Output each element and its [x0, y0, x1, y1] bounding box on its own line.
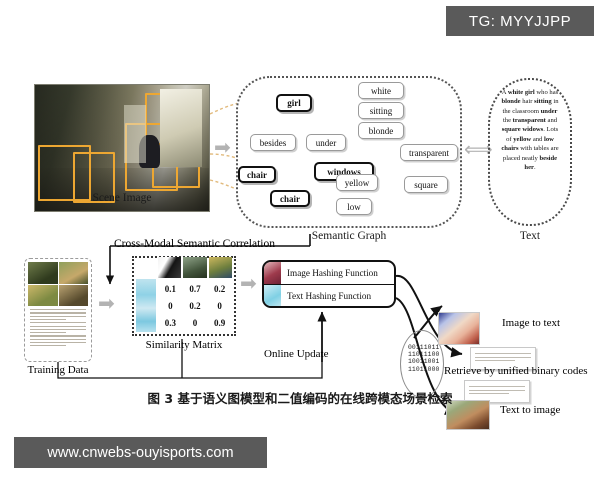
matrix-cell: 0.3 [158, 315, 183, 332]
matrix-column-thumbnails [158, 257, 232, 278]
image-modality-swatch [264, 262, 281, 284]
graph-node-low[interactable]: low [336, 198, 372, 215]
matrix-cell: 0 [183, 315, 208, 332]
image-to-text-label: Image to text [502, 317, 560, 329]
binary-code-line: 10011001 [408, 358, 439, 365]
matrix-values: 0.1 0.7 0.2 0 0.2 0 0.3 0 0.9 [158, 280, 232, 332]
matrix-cell: 0.9 [207, 315, 232, 332]
text-panel-label: Text [488, 230, 572, 242]
graph-node-transparent[interactable]: transparent [400, 144, 458, 161]
text-description-panel: A white girl who has blonde hair sitting… [488, 78, 572, 226]
graph-node-chair-2[interactable]: chair [270, 190, 310, 207]
graph-node-besides[interactable]: besides [250, 134, 296, 151]
matrix-cell: 0 [207, 297, 232, 314]
graph-node-chair-1[interactable]: chair [238, 166, 276, 183]
similarity-matrix-label: Similarity Matrix [124, 339, 244, 351]
figure-caption: 图 3 基于语义图模型和二值编码的在线跨模态场景检索 [14, 388, 586, 407]
matrix-thumb-1 [158, 257, 181, 278]
watermark-bar: www.cnwebs-ouyisports.com [14, 437, 267, 468]
text-modality-swatch [264, 285, 281, 306]
figure-canvas: Scene Image girl white sitting blonde be… [14, 62, 586, 420]
image-hashing-row[interactable]: Image Hashing Function [264, 262, 394, 284]
matrix-cell: 0 [158, 297, 183, 314]
matrix-thumb-3 [209, 257, 232, 278]
training-text-lines [28, 309, 88, 346]
image-hashing-label: Image Hashing Function [281, 268, 378, 278]
graph-node-square[interactable]: square [404, 176, 448, 193]
training-data-panel [24, 258, 92, 362]
matrix-cell: 0.2 [207, 280, 232, 297]
training-thumb-4 [59, 285, 89, 307]
training-thumb-3 [28, 285, 58, 307]
training-thumbnails [28, 262, 88, 306]
matrix-cell: 0.7 [183, 280, 208, 297]
training-thumb-1 [28, 262, 58, 284]
tag-badge: TG: MYYJJPP [446, 6, 594, 36]
retrieved-query-image [438, 312, 480, 345]
graph-node-blonde[interactable]: blonde [358, 122, 404, 139]
binary-code-line: 11011100 [408, 351, 439, 358]
similarity-matrix-panel: 0.1 0.7 0.2 0 0.2 0 0.3 0 0.9 [132, 256, 236, 336]
screenshot-root: TG: MYYJJPP [0, 0, 600, 480]
girl-silhouette [139, 135, 160, 168]
matrix-cell: 0.2 [183, 297, 208, 314]
graph-node-girl[interactable]: girl [276, 94, 312, 112]
binary-code-line: 00111011 [408, 344, 439, 351]
graph-node-sitting[interactable]: sitting [358, 102, 404, 119]
training-to-matrix-arrow-icon: ➡ [98, 294, 115, 314]
graph-node-under[interactable]: under [306, 134, 346, 151]
retrieve-unified-label: Retrieve by unified binary codes [444, 365, 588, 377]
online-update-label: Online Update [264, 348, 328, 360]
matrix-to-hashing-arrow-icon: ➡ [240, 274, 257, 294]
matrix-cell: 0.1 [158, 280, 183, 297]
training-thumb-2 [59, 262, 89, 284]
scene-image-label: Scene Image [34, 192, 210, 204]
cross-modal-label: Cross-Modal Semantic Correlation [114, 238, 275, 250]
text-hashing-row[interactable]: Text Hashing Function [264, 284, 394, 306]
matrix-row-strip [136, 279, 156, 332]
matrix-thumb-2 [183, 257, 206, 278]
scene-to-graph-arrow-icon: ➡ [214, 138, 231, 158]
binary-code-line: 11011000 [408, 366, 439, 373]
text-hashing-label: Text Hashing Function [281, 291, 371, 301]
graph-node-white[interactable]: white [358, 82, 404, 99]
graph-node-yellow[interactable]: yellow [336, 174, 378, 191]
hashing-functions-box: Image Hashing Function Text Hashing Func… [262, 260, 396, 308]
training-data-label: Training Data [16, 364, 100, 376]
binary-codes: 00111011 11011100 10011001 11011000 [408, 344, 439, 373]
